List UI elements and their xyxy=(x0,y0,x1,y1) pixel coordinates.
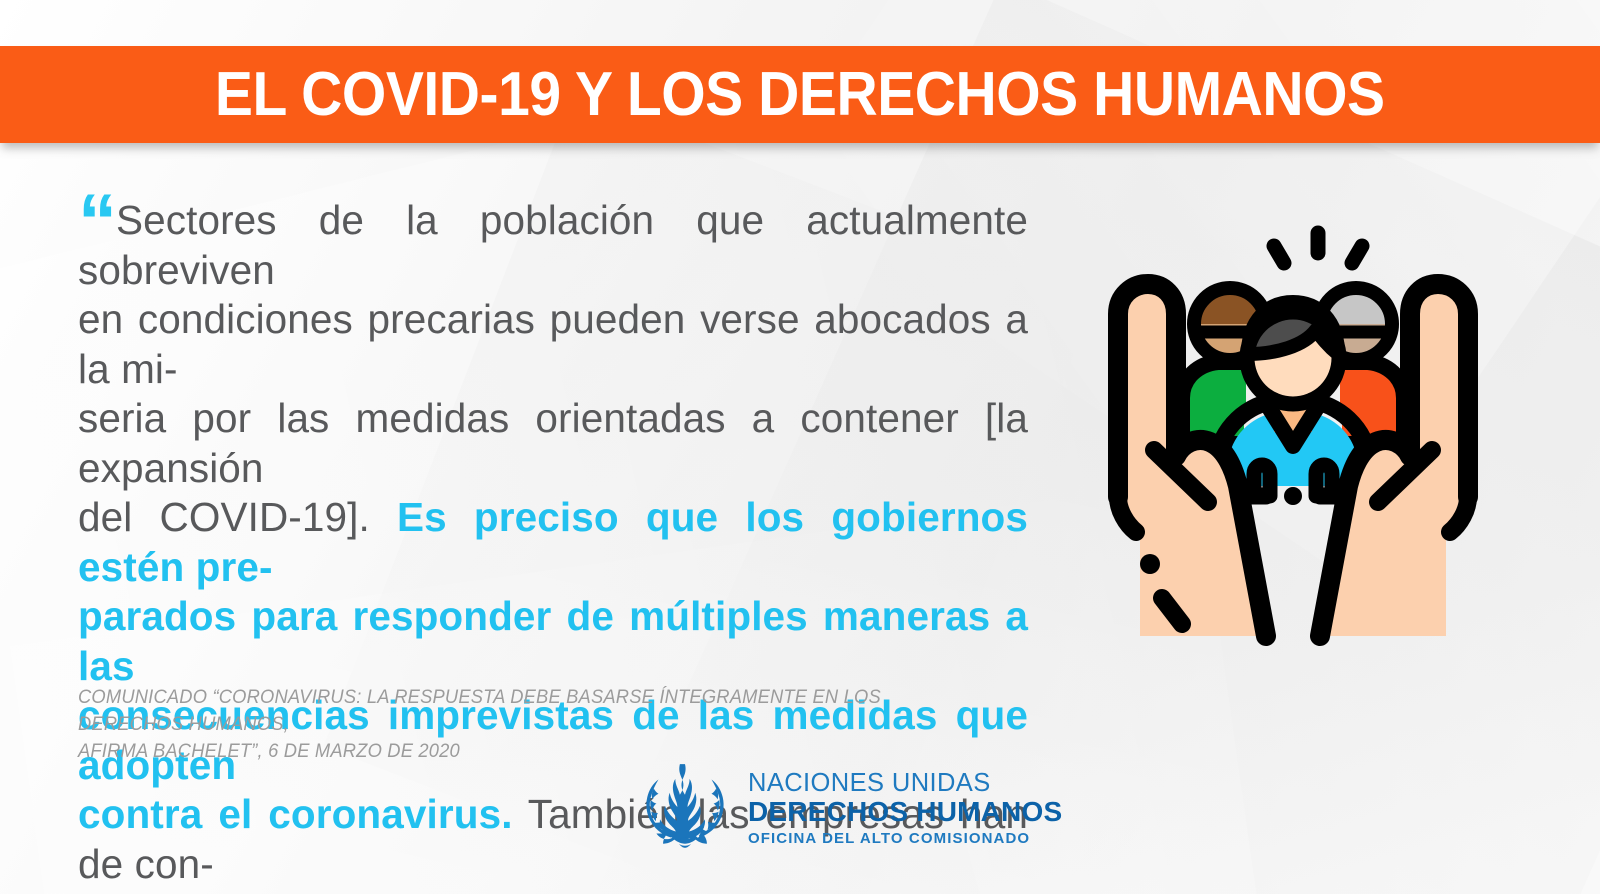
quote-line-1: “Sectores de la población que actualment… xyxy=(78,196,1028,295)
quote-line-5: parados para responder de múltiples mane… xyxy=(78,592,1028,691)
logo-line-derechos-humanos: DERECHOS HUMANOS xyxy=(748,798,1062,826)
ohchr-logo: NACIONES UNIDAS DERECHOS HUMANOS OFICINA… xyxy=(634,757,1062,857)
header-banner: EL COVID-19 Y LOS DERECHOS HUMANOS xyxy=(0,46,1600,143)
quote-segment: Sectores de la población que actualmente… xyxy=(78,197,1028,293)
page-title: EL COVID-19 Y LOS DERECHOS HUMANOS xyxy=(215,64,1385,126)
hands-holding-people-icon xyxy=(1078,206,1508,656)
logo-text-block: NACIONES UNIDAS DERECHOS HUMANOS OFICINA… xyxy=(748,768,1062,847)
quote-segment-highlight: parados para responder de múltiples mane… xyxy=(78,593,1028,689)
logo-line-oficina-alto-comisionado: OFICINA DEL ALTO COMISIONADO xyxy=(748,831,1062,846)
attribution-line-1: COMUNICADO “CORONAVIRUS: LA RESPUESTA DE… xyxy=(78,684,924,738)
quote-segment: en condiciones precarias pueden verse ab… xyxy=(78,296,1028,392)
ray-left xyxy=(1274,246,1284,263)
quote-line-8: tribuir, respondiendo con flexibilidad a… xyxy=(78,889,1028,894)
quote-segment: del COVID-19]. xyxy=(78,494,397,540)
quote-segment: seria por las medidas orientadas a conte… xyxy=(78,395,1028,491)
quote-line-2: en condiciones precarias pueden verse ab… xyxy=(78,295,1028,394)
logo-line-naciones-unidas: NACIONES UNIDAS xyxy=(748,771,1062,797)
quote-segment-highlight: contra el coronavirus. xyxy=(78,791,513,837)
ray-right xyxy=(1352,246,1362,263)
ohchr-flame-laurel-emblem-icon xyxy=(634,757,736,857)
quote-segment: tribuir, respondiendo con flexibilidad a… xyxy=(78,890,1028,894)
quote-line-4: del COVID-19]. Es preciso que los gobier… xyxy=(78,493,1028,592)
open-quote-icon: “ xyxy=(78,177,114,265)
quote-line-3: seria por las medidas orientadas a conte… xyxy=(78,394,1028,493)
source-attribution: COMUNICADO “CORONAVIRUS: LA RESPUESTA DE… xyxy=(78,684,924,765)
poster-canvas: EL COVID-19 Y LOS DERECHOS HUMANOS “Sect… xyxy=(0,0,1600,894)
